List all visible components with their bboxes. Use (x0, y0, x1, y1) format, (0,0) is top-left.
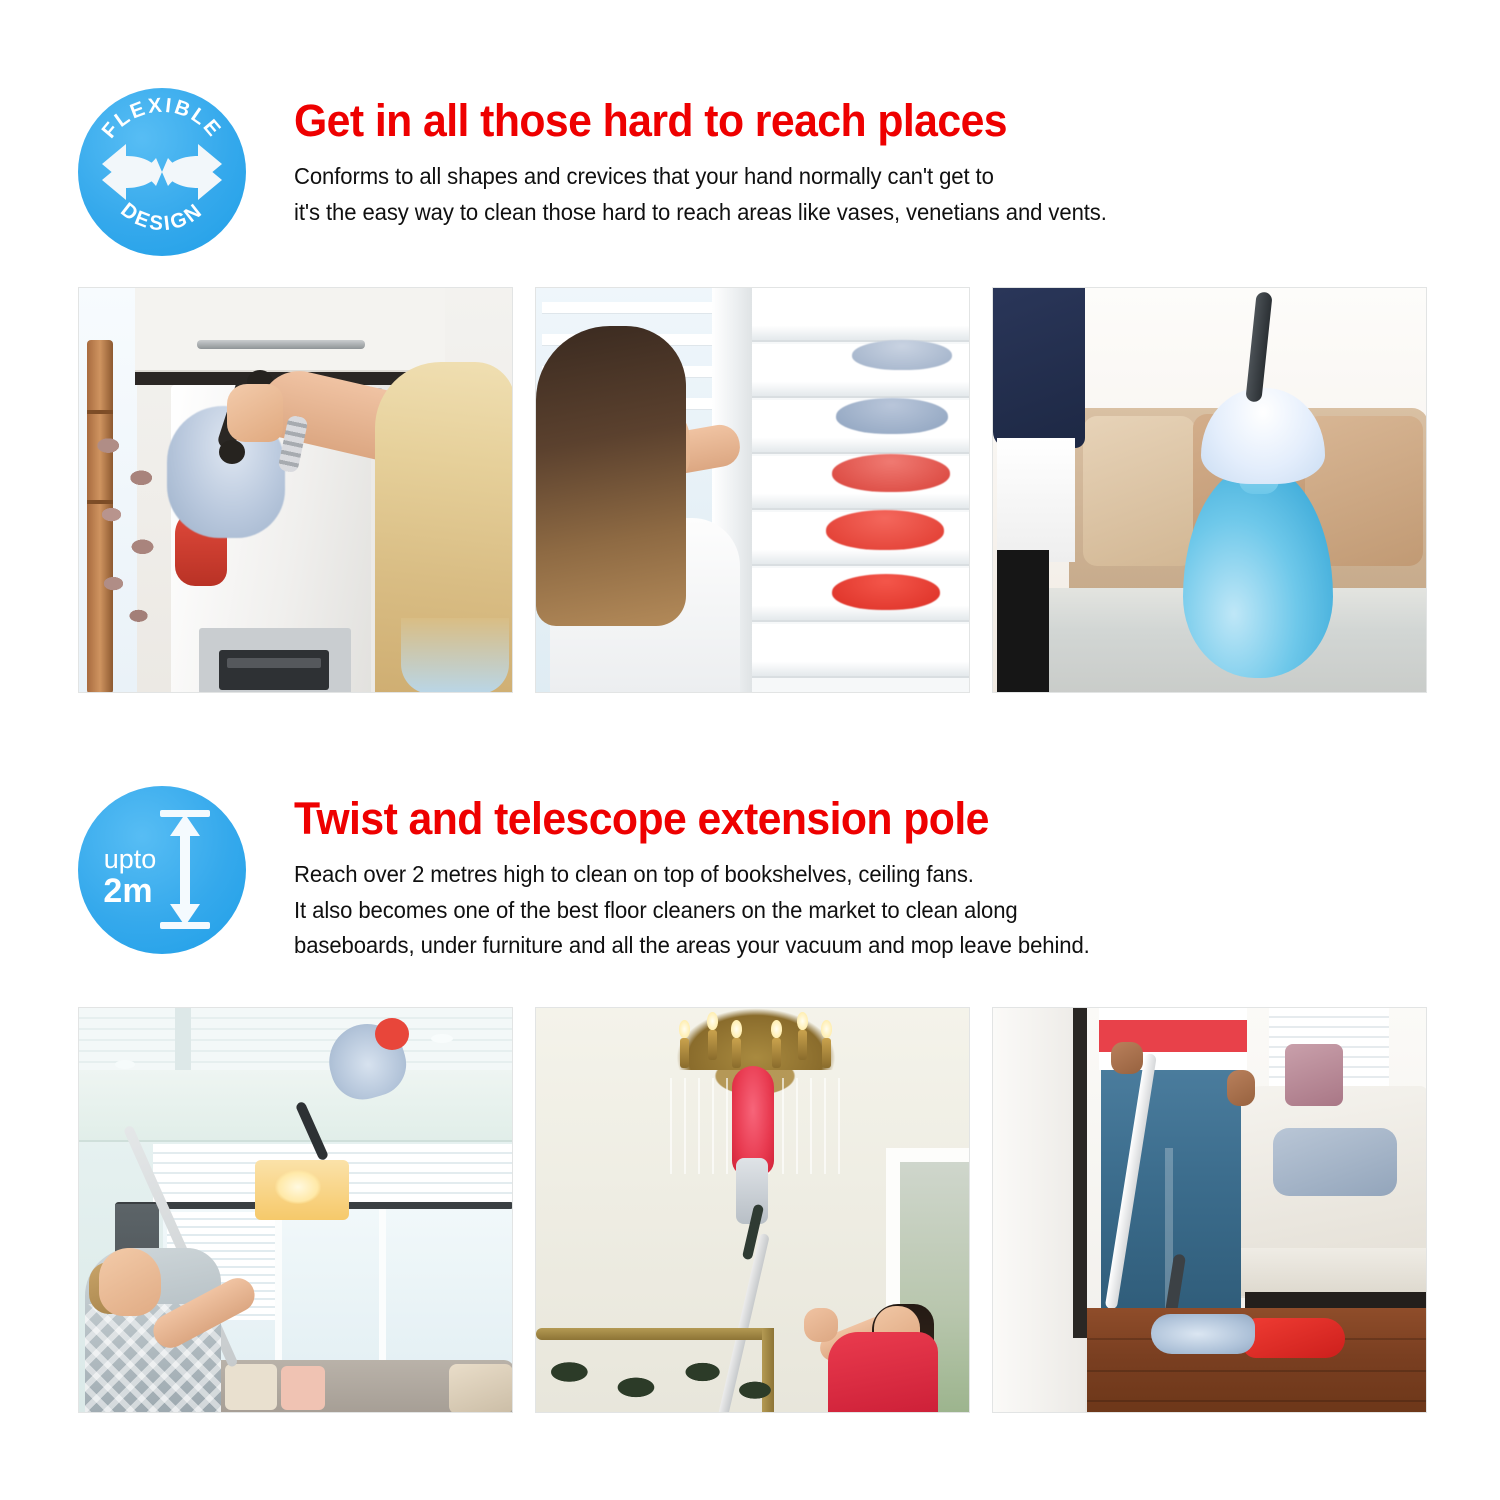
photo-high-ceiling: Woman using extended pole duster on a hi… (78, 1007, 513, 1413)
svg-text:DESIGN: DESIGN (116, 198, 207, 235)
body-line: it's the easy way to clean those hard to… (294, 195, 1107, 231)
flexible-design-badge: FLEXIBLE DESIGN (78, 88, 246, 256)
section-body-flexible: Conforms to all shapes and crevices that… (294, 159, 1107, 230)
body-line: Reach over 2 metres high to clean on top… (294, 857, 1090, 893)
feature-text-flexible: Get in all those hard to reach places Co… (294, 88, 1159, 230)
vertical-double-arrow-icon: upto 2m (78, 786, 246, 954)
photo-row-flexible: Woman dusting the top of a refrigerator … (78, 287, 1427, 693)
body-line: Conforms to all shapes and crevices that… (294, 159, 1107, 195)
body-line: baseboards, under furniture and all the … (294, 928, 1090, 964)
section-body-telescope: Reach over 2 metres high to clean on top… (294, 857, 1090, 964)
badge-line1: upto (104, 844, 157, 874)
product-feature-page: FLEXIBLE DESIGN Get in all those hard to… (0, 0, 1500, 1500)
svg-text:FLEXIBLE: FLEXIBLE (97, 94, 226, 143)
section-heading-telescope: Twist and telescope extension pole (294, 796, 1098, 843)
section-heading-flexible: Get in all those hard to reach places (294, 98, 1115, 145)
photo-glass-vase: Duster conforming over a blue glass vase… (992, 287, 1427, 693)
photo-plantation-shutters: Woman cleaning white plantation shutter … (535, 287, 970, 693)
photo-under-bed-floor: Person using the duster as a floor clean… (992, 1007, 1427, 1413)
reach-height-badge: upto 2m (78, 786, 246, 954)
photo-chandelier: Woman in red top dusting a crystal chand… (535, 1007, 970, 1413)
feature-block-telescope: upto 2m Twist and telescope extension po… (78, 786, 1140, 964)
four-way-arrow-icon: FLEXIBLE DESIGN (78, 88, 246, 256)
badge-line2: 2m (103, 872, 152, 910)
photo-fridge-top-dusting: Woman dusting the top of a refrigerator … (78, 287, 513, 693)
feature-block-flexible-design: FLEXIBLE DESIGN Get in all those hard to… (78, 88, 1159, 256)
photo-row-telescope: Woman using extended pole duster on a hi… (78, 1007, 1427, 1413)
feature-text-telescope: Twist and telescope extension pole Reach… (294, 786, 1140, 964)
body-line: It also becomes one of the best floor cl… (294, 893, 1090, 929)
